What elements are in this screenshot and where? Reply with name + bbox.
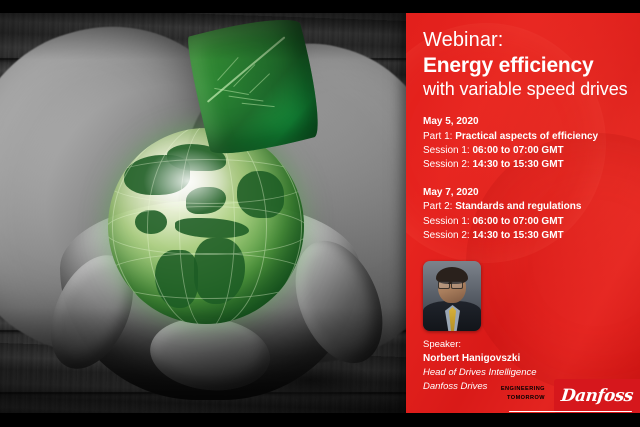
globe-highlight xyxy=(143,148,233,215)
schedule-part: Part 1: Practical aspects of efficiency xyxy=(423,130,628,144)
tagline-line-2: TOMORROW xyxy=(501,394,545,402)
part-label: Part 1: xyxy=(423,131,452,142)
session-time: 14:30 to 15:30 GMT xyxy=(472,230,563,241)
schedule-list: May 5, 2020 Part 1: Practical aspects of… xyxy=(423,115,628,243)
schedule-session: Session 2: 14:30 to 15:30 GMT xyxy=(423,158,628,172)
hero-photo xyxy=(0,0,420,427)
leaf-midrib xyxy=(207,35,286,102)
avatar-glasses-bridge xyxy=(448,283,451,284)
avatar-glasses xyxy=(451,281,463,289)
schedule-block: May 5, 2020 Part 1: Practical aspects of… xyxy=(423,115,628,172)
danfoss-logo-underline xyxy=(554,411,632,412)
tagline-line-1: ENGINEERING xyxy=(501,385,545,393)
part-label: Part 2: xyxy=(423,201,452,212)
speaker-block: Speaker: Norbert Hanigovszki Head of Dri… xyxy=(423,261,628,394)
session-label: Session 1: xyxy=(423,145,470,156)
session-time: 14:30 to 15:30 GMT xyxy=(472,159,563,170)
schedule-session: Session 1: 06:00 to 07:00 GMT xyxy=(423,215,628,229)
bottom-black-band xyxy=(0,413,640,427)
danfoss-wordmark: Danfoss xyxy=(560,386,634,406)
speaker-role: Head of Drives Intelligence xyxy=(423,366,628,380)
brand-footer: ENGINEERING TOMORROW Danfoss xyxy=(501,379,640,413)
speaker-name: Norbert Hanigovszki xyxy=(423,352,628,367)
schedule-part: Part 2: Standards and regulations xyxy=(423,200,628,214)
top-black-band xyxy=(0,0,640,13)
panel-content: Webinar: Energy efficiency with variable… xyxy=(423,13,628,394)
session-time: 06:00 to 07:00 GMT xyxy=(472,216,563,227)
schedule-date: May 5, 2020 xyxy=(423,115,628,129)
brand-tagline: ENGINEERING TOMORROW xyxy=(501,385,545,413)
schedule-session: Session 2: 14:30 to 15:30 GMT xyxy=(423,229,628,243)
info-panel: Webinar: Energy efficiency with variable… xyxy=(406,13,640,413)
webinar-subtitle: with variable speed drives xyxy=(423,80,628,100)
session-label: Session 2: xyxy=(423,159,470,170)
schedule-block: May 7, 2020 Part 2: Standards and regula… xyxy=(423,186,628,243)
schedule-session: Session 1: 06:00 to 07:00 GMT xyxy=(423,144,628,158)
danfoss-logo: Danfoss xyxy=(554,379,640,413)
speaker-label: Speaker: xyxy=(423,338,628,352)
session-time: 06:00 to 07:00 GMT xyxy=(472,145,563,156)
webinar-title: Energy efficiency xyxy=(423,55,628,78)
webinar-kicker: Webinar: xyxy=(423,30,628,51)
schedule-date: May 7, 2020 xyxy=(423,186,628,200)
green-globe xyxy=(108,128,304,324)
session-label: Session 1: xyxy=(423,216,470,227)
webinar-poster: Webinar: Energy efficiency with variable… xyxy=(0,0,640,427)
speaker-avatar xyxy=(423,261,481,331)
part-title: Practical aspects of efficiency xyxy=(455,131,598,142)
session-label: Session 2: xyxy=(423,230,470,241)
part-title: Standards and regulations xyxy=(455,201,581,212)
